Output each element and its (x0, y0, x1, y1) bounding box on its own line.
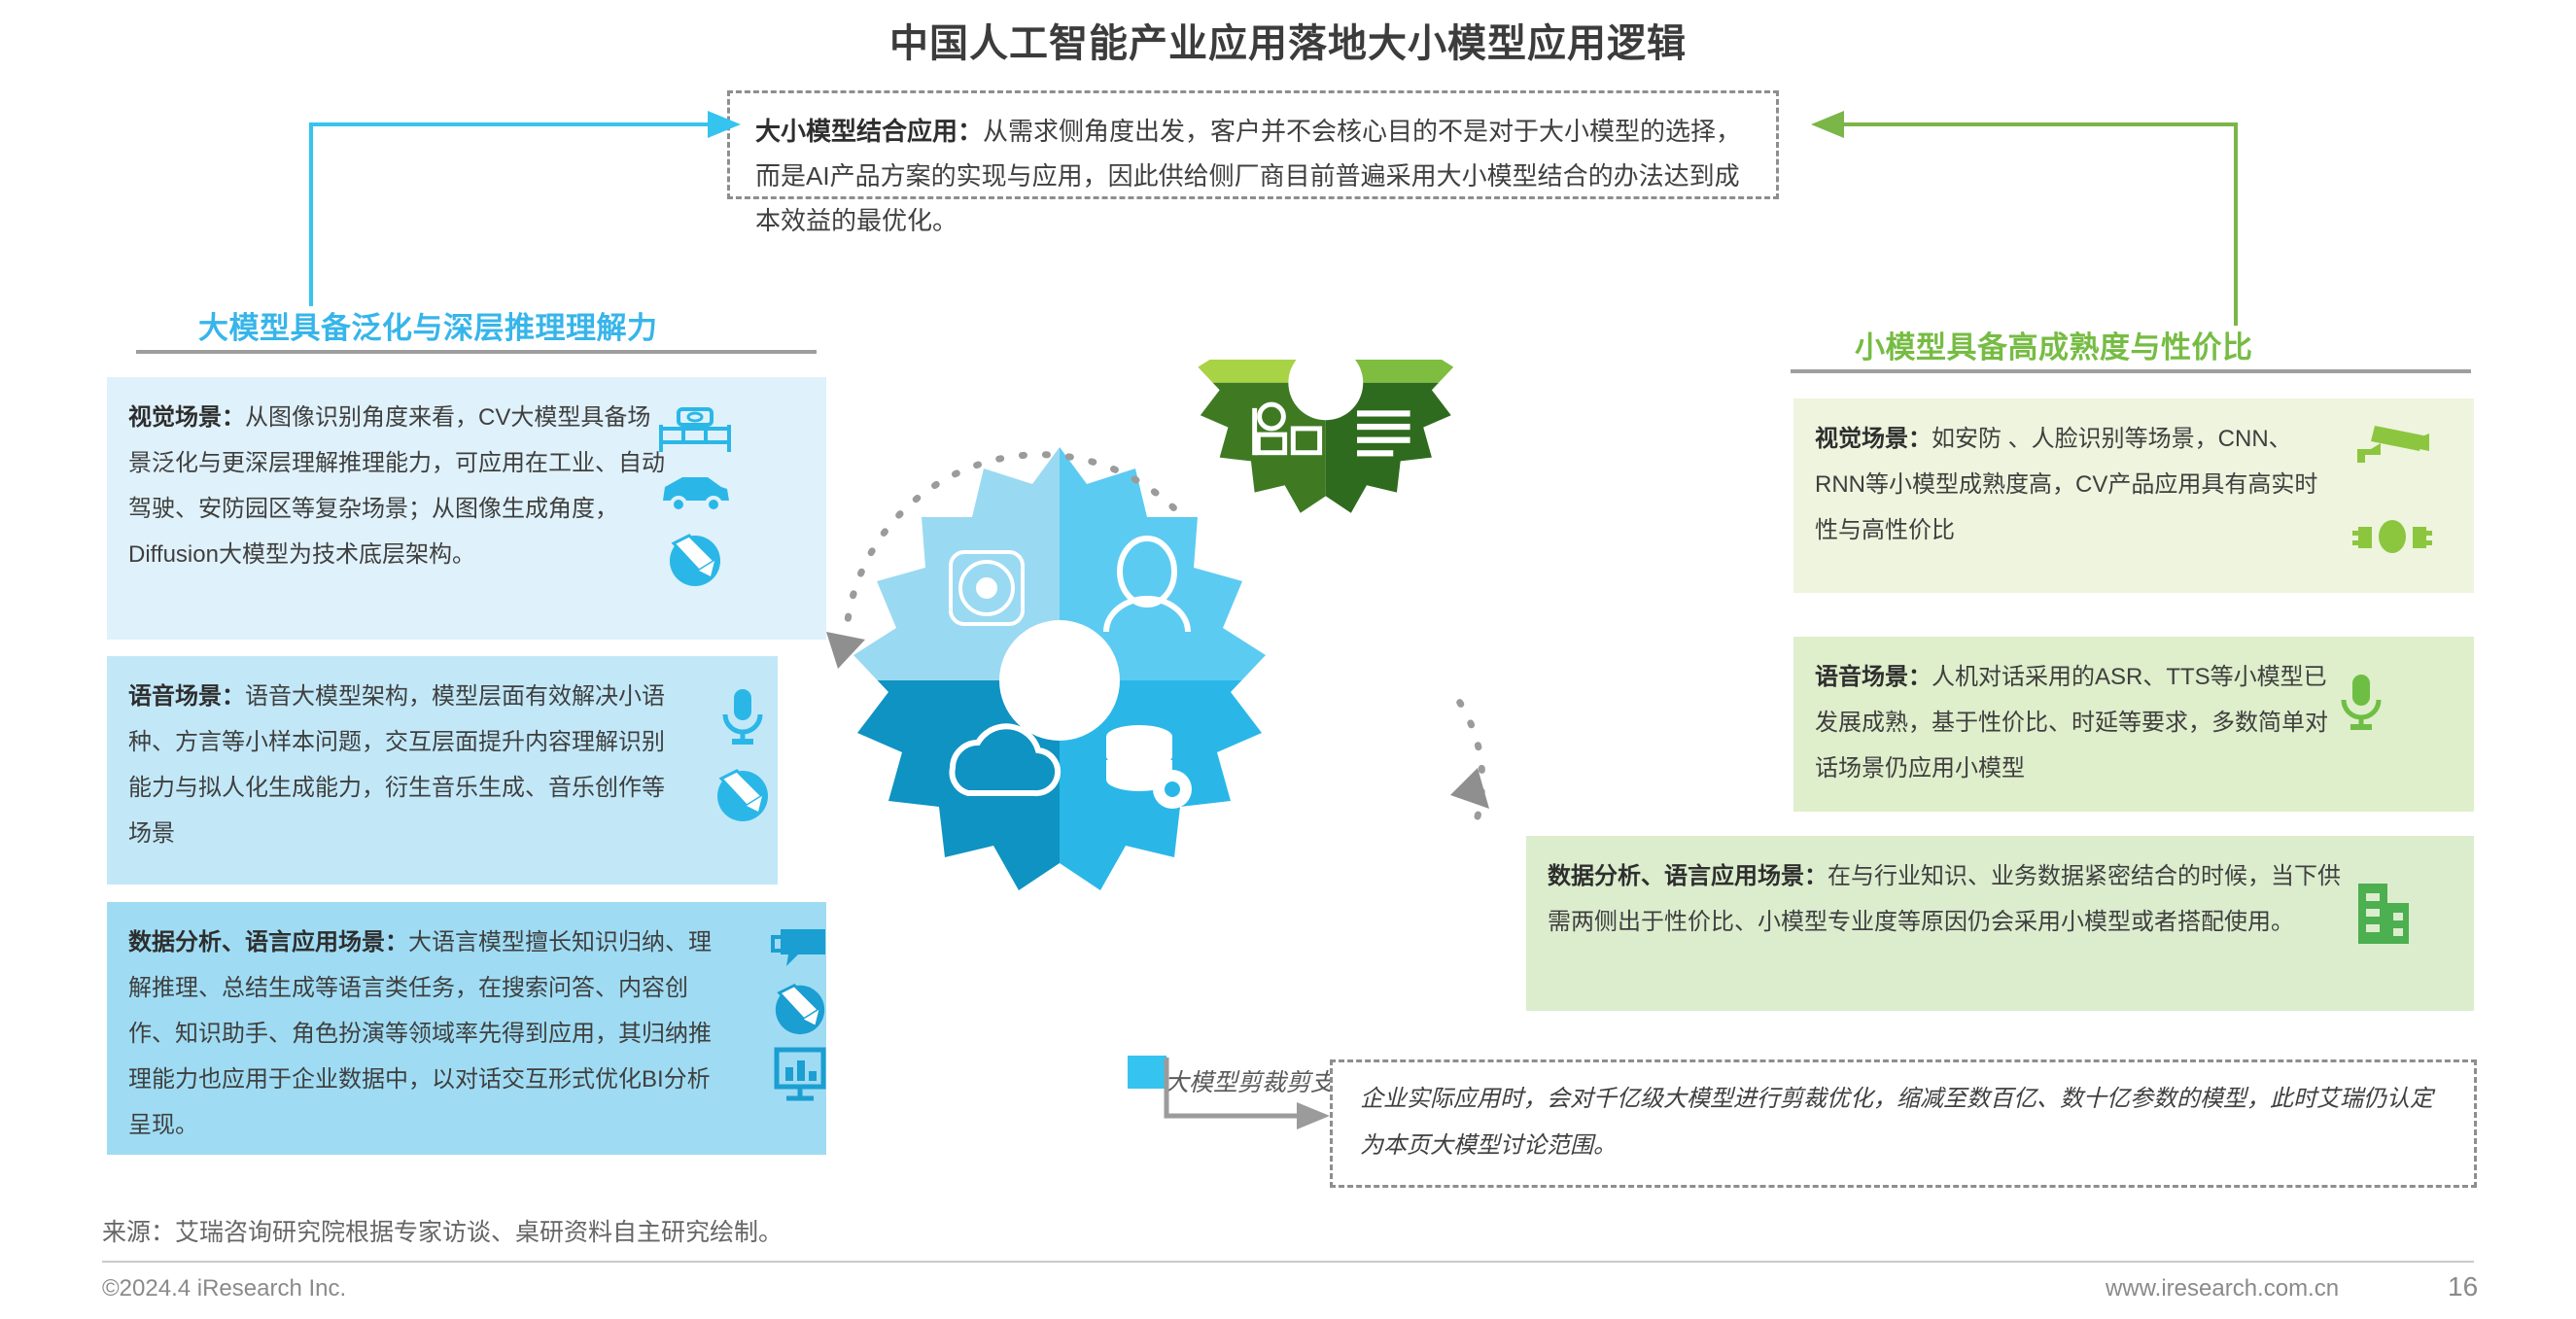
prune-callout: 企业实际应用时，会对千亿级大模型进行剪裁优化，缩减至数百亿、数十亿参数的模型，此… (1330, 1059, 2477, 1188)
combined-model-callout: 大小模型结合应用：从需求侧角度出发，客户并不会核心目的不是对于大小模型的选择，而… (727, 90, 1779, 199)
right-box-3-lead: 数据分析、语言应用场景： (1548, 863, 1828, 889)
left-box-2-lead: 语音场景： (128, 683, 245, 710)
right-box-1-lead: 视觉场景： (1815, 426, 1932, 452)
right-box-data-language-scenario: 数据分析、语言应用场景：在与行业知识、业务数据紧密结合的时候，当下供需两侧出于性… (1526, 836, 2474, 1011)
prune-callout-text: 企业实际应用时，会对千亿级大模型进行剪裁优化，缩减至数百亿、数十亿参数的模型，此… (1360, 1076, 2447, 1169)
source-note: 来源：艾瑞咨询研究院根据专家访谈、桌研资料自主研究绘制。 (102, 1213, 783, 1248)
page-title: 中国人工智能产业应用落地大小模型应用逻辑 (0, 12, 2576, 68)
rotation-arc-right (1450, 700, 1489, 816)
small-model-gear (1198, 360, 1453, 513)
combined-model-callout-text: 大小模型结合应用：从需求侧角度出发，客户并不会核心目的不是对于大小模型的选择，而… (755, 109, 1753, 243)
center-gear-graphic (797, 360, 1536, 1059)
right-section-divider (1791, 369, 2471, 373)
big-model-gear (853, 447, 1266, 890)
projector-icon (2352, 513, 2432, 562)
microphone-icon (714, 685, 771, 749)
left-box-1-lead: 视觉场景： (128, 404, 245, 431)
conveyor-belt-icon (653, 403, 737, 458)
right-connector-arrow (1769, 97, 2255, 330)
right-box-3-icons (2352, 880, 2413, 948)
footer-divider (102, 1261, 2474, 1263)
pen-circle-icon (708, 763, 778, 823)
left-box-data-language-scenario: 数据分析、语言应用场景：大语言模型擅长知识归纳、理解推理、总结生成等语言类任务，… (107, 902, 826, 1155)
prune-color-swatch (1128, 1056, 1166, 1089)
building-icon (2352, 880, 2413, 948)
left-box-3-text: 大语言模型擅长知识归纳、理解推理、总结生成等语言类任务，在搜索问答、内容创作、知… (128, 929, 712, 1138)
prune-arrow (1163, 1054, 1338, 1161)
pen-circle-icon (660, 528, 730, 588)
left-connector-arrow (292, 97, 758, 311)
site-url: www.iresearch.com.cn (2106, 1275, 2339, 1302)
combined-model-callout-lead: 大小模型结合应用： (755, 117, 983, 146)
left-box-3-lead: 数据分析、语言应用场景： (128, 929, 408, 955)
car-icon (653, 469, 737, 518)
left-box-1-icons (653, 403, 737, 588)
page-number: 16 (2448, 1271, 2478, 1302)
left-section-header: 大模型具备泛化与深层推理理解力 (198, 303, 658, 347)
right-box-2-lead: 语音场景： (1815, 664, 1932, 690)
microphone-icon (2333, 671, 2389, 735)
left-box-voice-scenario: 语音场景：语音大模型架构，模型层面有效解决小语种、方言等小样本问题，交互层面提升… (107, 656, 778, 885)
right-box-2-icons (2333, 671, 2389, 735)
copyright-text: ©2024.4 iResearch Inc. (102, 1275, 346, 1302)
left-box-2-icons (708, 685, 778, 823)
gear-hub (999, 620, 1120, 741)
security-camera-icon (2355, 418, 2429, 470)
left-section-divider (136, 350, 817, 354)
right-box-1-icons (2352, 418, 2432, 562)
right-section-header: 小模型具备高成熟度与性价比 (1855, 323, 2253, 366)
